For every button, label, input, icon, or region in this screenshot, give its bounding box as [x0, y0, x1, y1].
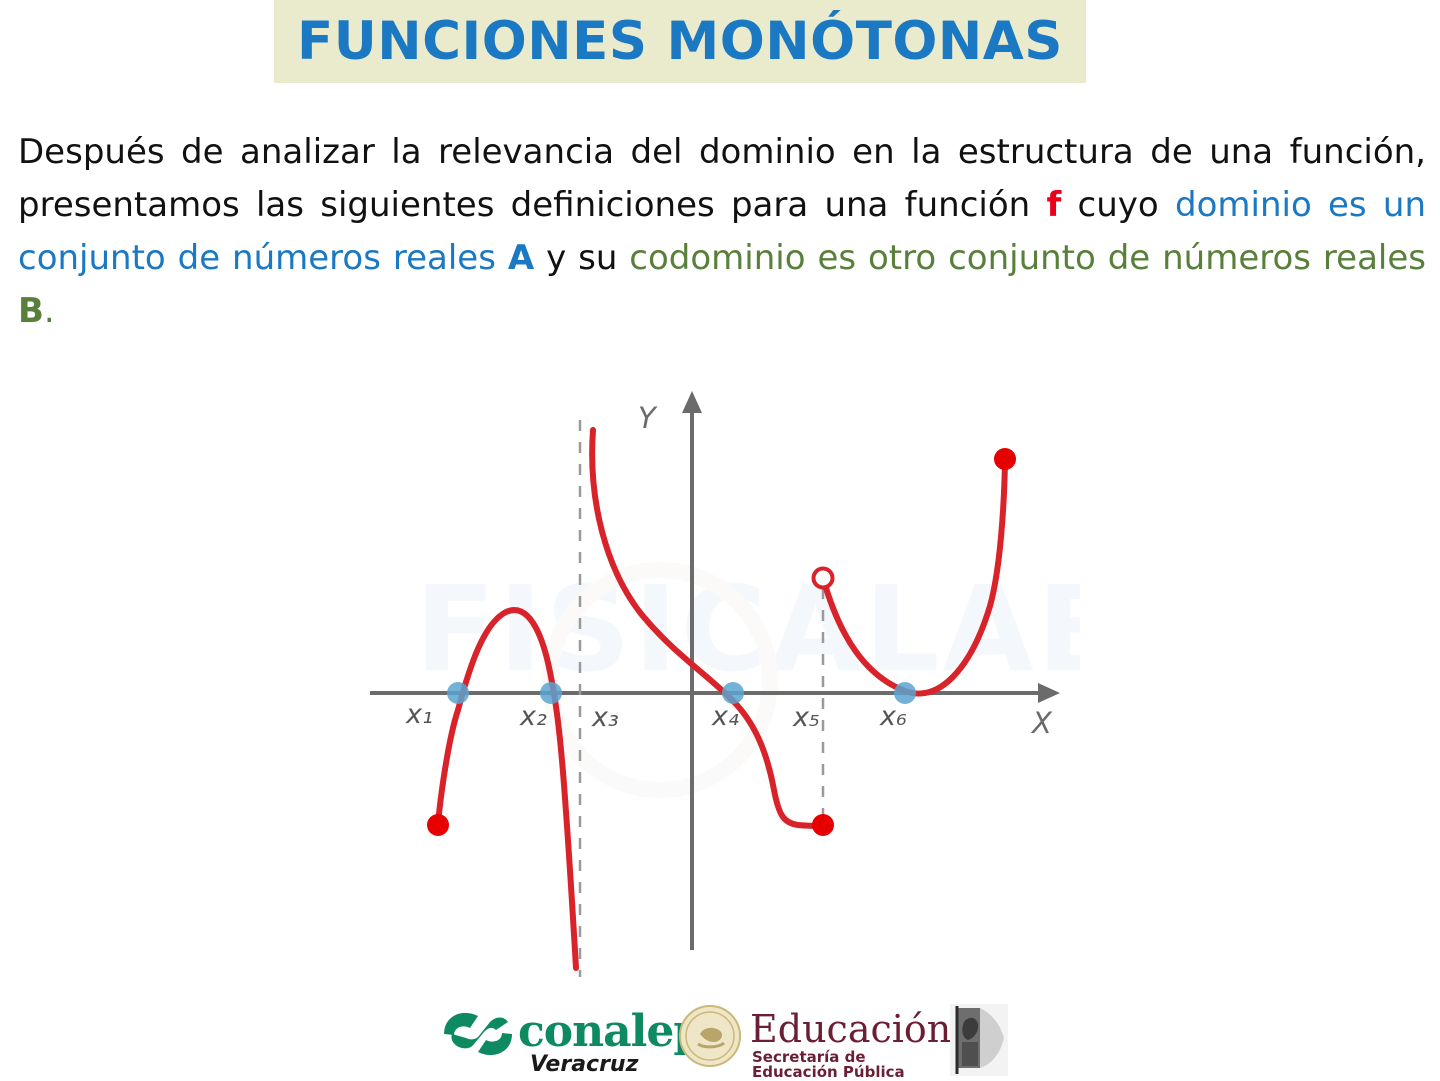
endpoint-open-x5	[814, 569, 833, 588]
endpoint-closed-middle	[812, 814, 834, 836]
flag-icon	[950, 1004, 1008, 1076]
title-banner: FUNCIONES MONÓTONAS	[274, 0, 1086, 83]
watermark-fisicalab: FISICALAB	[415, 560, 1080, 790]
root-marker-x1	[447, 682, 469, 704]
paragraph-segment-a: A	[508, 238, 534, 278]
y-axis-label: Y	[638, 401, 658, 435]
paragraph-segment-cuyo: cuyo	[1061, 185, 1175, 225]
conalep-wordmark: conalep	[518, 1010, 703, 1054]
sep-subtitle: Secretaría de Educación Pública	[752, 1050, 940, 1080]
sep-logo: Educación Secretaría de Educación Públic…	[678, 1004, 940, 1080]
function-graph-figure: FISICALAB Y X	[360, 380, 1080, 990]
endpoint-closed-left	[427, 814, 449, 836]
x-axis-label: X	[1030, 706, 1053, 740]
paragraph-segment-ysu: y su	[534, 238, 629, 278]
footer-logos: conalep Veracruz Educación Secretaría de…	[440, 1004, 1010, 1080]
tick-label-x1: x₁	[405, 699, 433, 730]
tick-label-x3: x₃	[591, 702, 619, 733]
paragraph-segment-b: B	[18, 291, 44, 331]
conalep-logo: conalep Veracruz	[440, 1004, 666, 1080]
tick-label-x2: x₂	[519, 701, 547, 732]
tick-label-x6: x₆	[879, 701, 907, 732]
endpoint-closed-right	[994, 448, 1016, 470]
x-tick-labels: x₁ x₂ x₃ x₄ x₅ x₆	[405, 699, 907, 733]
conalep-mark-icon	[440, 1004, 516, 1064]
paragraph-segment-codominio: codominio es otro conjunto de números re…	[629, 238, 1437, 278]
paragraph-segment-f: f	[1047, 185, 1062, 225]
axis-label-y: Y	[638, 401, 658, 435]
sep-wordmark: Educación	[750, 1010, 951, 1048]
body-paragraph: Después de analizar la relevancia del do…	[18, 126, 1426, 338]
page-title: FUNCIONES MONÓTONAS	[297, 15, 1063, 68]
mexico-seal-icon	[678, 1004, 742, 1068]
function-curve	[438, 430, 1005, 968]
tick-label-x5: x₅	[792, 702, 820, 733]
flag-emblem-logo	[950, 1004, 1010, 1080]
paragraph-segment-period: .	[44, 291, 55, 331]
axis-label-x: X	[1030, 706, 1053, 740]
tick-label-x4: x₄	[711, 701, 739, 732]
conalep-subtitle: Veracruz	[530, 1054, 638, 1076]
